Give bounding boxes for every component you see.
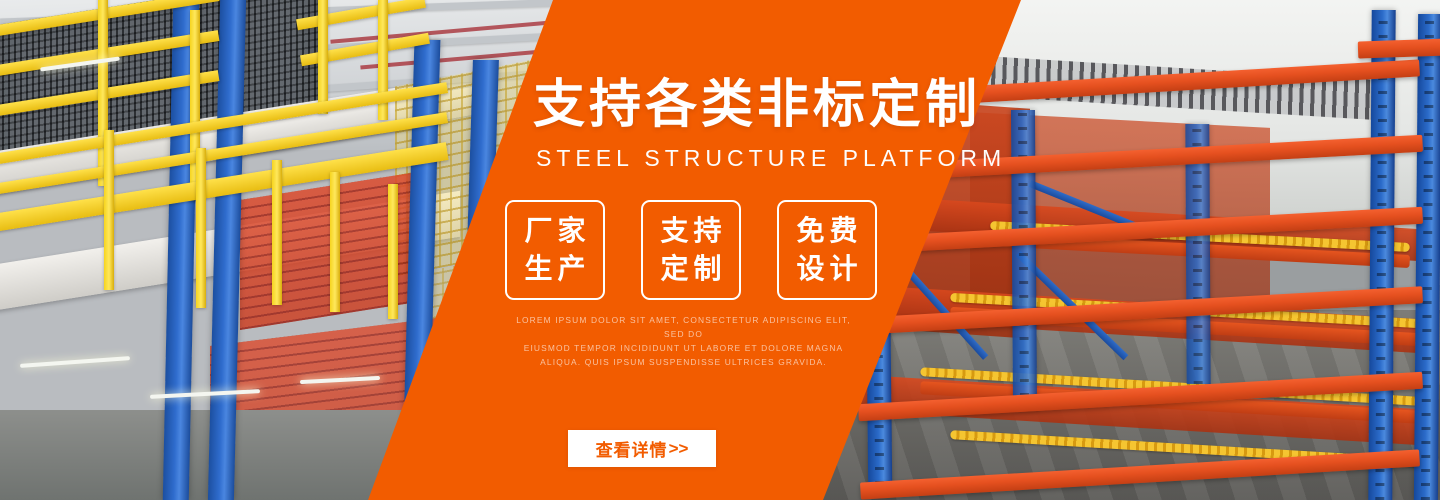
guard-rail-post (330, 172, 340, 312)
guard-rail-post (104, 130, 114, 290)
chevron-right-icon: >> (669, 439, 689, 459)
feature-box-line1: 支持 (655, 212, 726, 250)
feature-box-row: 厂家 生产 支持 定制 免费 设计 (505, 200, 877, 300)
guard-rail-post (196, 148, 206, 308)
guard-rail-post (272, 160, 282, 305)
promo-banner: 支持各类非标定制 STEEL STRUCTURE PLATFORM 厂家 生产 … (0, 0, 1440, 500)
feature-box-line1: 免费 (791, 212, 862, 250)
description-text: LOREM IPSUM DOLOR SIT AMET, CONSECTETUR … (511, 313, 856, 369)
feature-box-line2: 定制 (655, 250, 726, 288)
guard-rail-post (388, 184, 398, 319)
feature-box-free-design: 免费 设计 (777, 200, 877, 300)
description-line-3: ALIQUA. QUIS IPSUM SUSPENDISSE ULTRICES … (511, 355, 856, 369)
guard-rail-post (318, 0, 328, 114)
page-subtitle: STEEL STRUCTURE PLATFORM (536, 145, 1006, 171)
rack-beam (1358, 38, 1440, 58)
feature-box-customization: 支持 定制 (641, 200, 741, 300)
light-tube (20, 356, 130, 368)
feature-box-manufacturing: 厂家 生产 (505, 200, 605, 300)
feature-box-line2: 生产 (519, 250, 590, 288)
rack-upright (1368, 10, 1395, 500)
rack-upright (1414, 14, 1440, 500)
feature-box-line1: 厂家 (519, 212, 590, 250)
view-details-label: 查看详情 (596, 436, 668, 461)
feature-box-line2: 设计 (791, 250, 862, 288)
description-line-1: LOREM IPSUM DOLOR SIT AMET, CONSECTETUR … (511, 313, 856, 341)
view-details-button[interactable]: 查看详情 >> (568, 430, 716, 467)
page-title: 支持各类非标定制 (533, 74, 981, 136)
description-line-2: EIUSMOD TEMPOR INCIDIDUNT UT LABORE ET D… (511, 341, 856, 355)
